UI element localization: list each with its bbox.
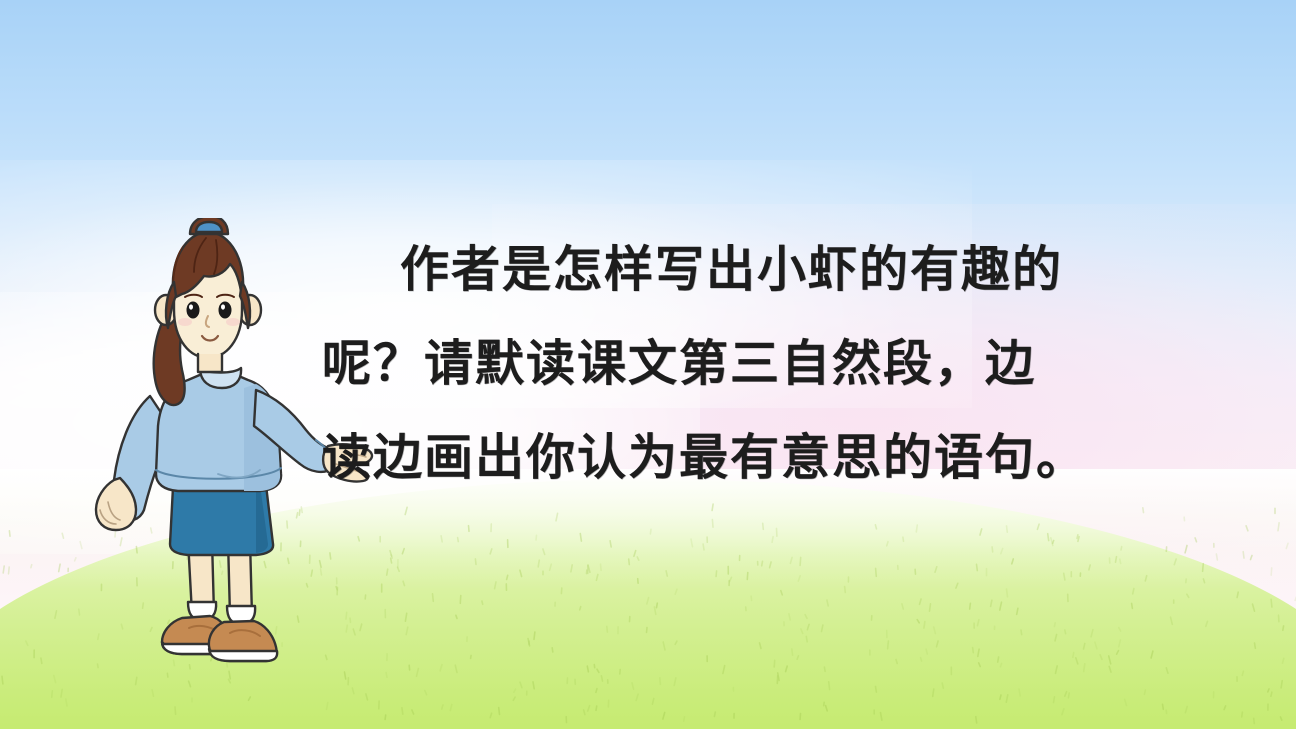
lesson-question-text: 作者是怎样写出小虾的有趣的 呢？请默读课文第三自然段，边 读边画出你认为最有意思… <box>322 222 1142 504</box>
left-blush <box>178 318 192 326</box>
text-line-2: 呢？请默读课文第三自然段，边 <box>322 316 1142 410</box>
neck <box>198 354 222 372</box>
right-shoe-sole <box>209 649 277 661</box>
left-eye-highlight <box>189 304 193 309</box>
right-eye <box>219 302 232 319</box>
text-line-1: 作者是怎样写出小虾的有趣的 <box>322 222 1142 316</box>
text-line-3: 读边画出你认为最有意思的语句。 <box>322 410 1142 504</box>
right-eye-highlight <box>221 304 225 309</box>
left-eye <box>187 302 200 319</box>
slide-canvas: 作者是怎样写出小虾的有趣的 呢？请默读课文第三自然段，边 读边画出你认为最有意思… <box>0 0 1296 729</box>
hair-tie <box>196 222 222 232</box>
right-blush <box>226 318 240 326</box>
